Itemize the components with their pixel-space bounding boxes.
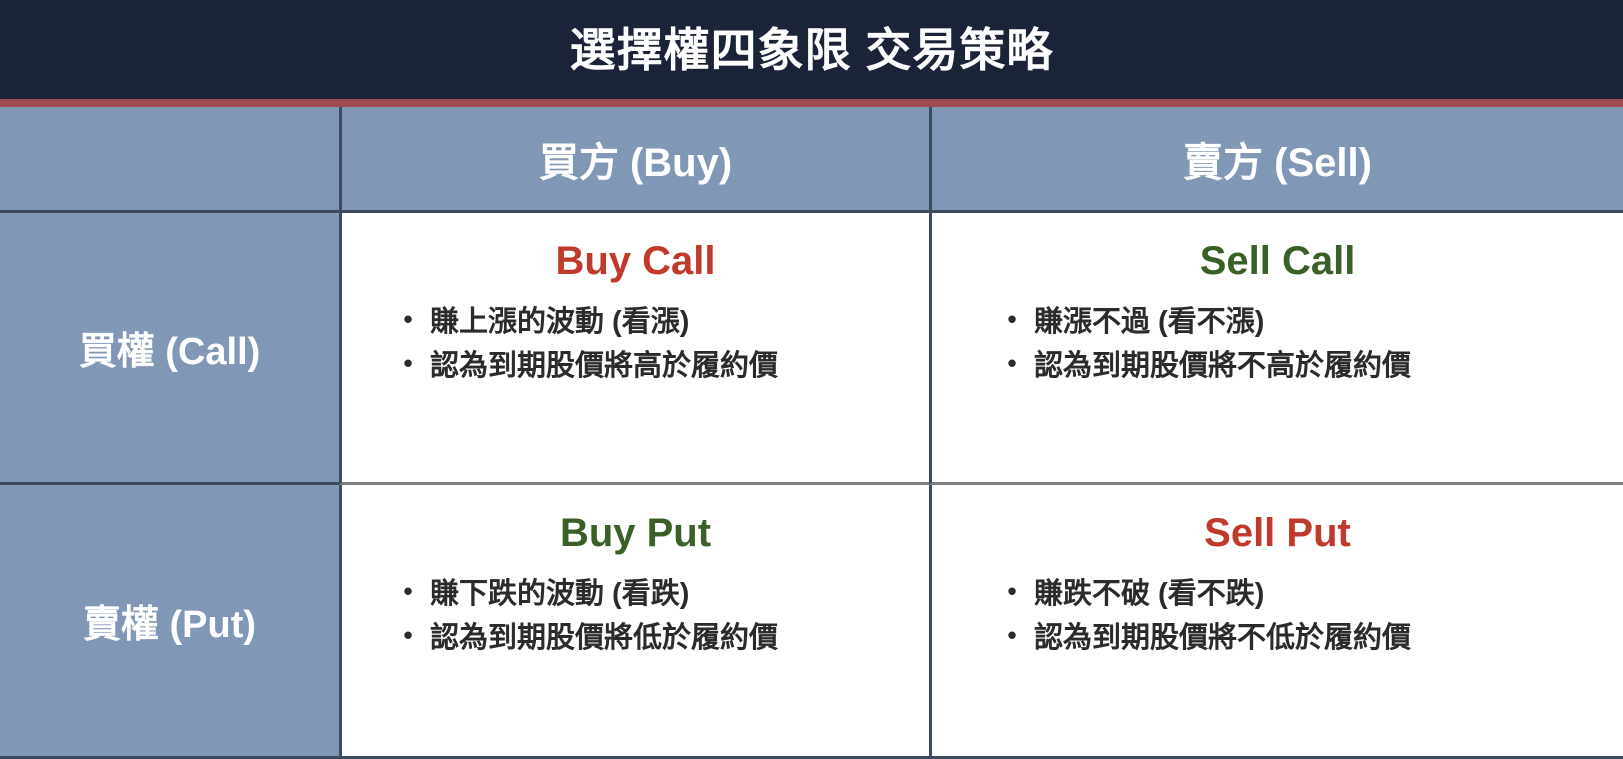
row-header-put: 賣權 (Put) xyxy=(0,485,339,759)
list-item: • 賺跌不破 (看不跌) xyxy=(990,573,1623,615)
cell-sell-call-bullets: • 賺漲不過 (看不漲) • 認為到期股價將不高於履約價 xyxy=(932,301,1623,389)
cell-buy-put: Buy Put • 賺下跌的波動 (看跌) • 認為到期股價將低於履約價 xyxy=(339,485,929,759)
cell-buy-call: Buy Call • 賺上漲的波動 (看漲) • 認為到期股價將高於履約價 xyxy=(339,213,929,485)
bullet-dot-icon: • xyxy=(386,617,430,655)
list-item: • 認為到期股價將高於履約價 xyxy=(386,345,929,387)
cell-buy-put-bullets: • 賺下跌的波動 (看跌) • 認為到期股價將低於履約價 xyxy=(342,573,929,661)
column-header-buy: 買方 (Buy) xyxy=(339,107,929,213)
row-header-put-label: 賣權 (Put) xyxy=(83,593,256,648)
row-header-call: 買權 (Call) xyxy=(0,213,339,485)
list-item-text: 賺跌不破 (看不跌) xyxy=(1034,573,1264,615)
list-item: • 賺下跌的波動 (看跌) xyxy=(386,573,929,615)
cell-sell-put: Sell Put • 賺跌不破 (看不跌) • 認為到期股價將不低於履約價 xyxy=(929,485,1623,759)
list-item-text: 賺下跌的波動 (看跌) xyxy=(430,573,689,615)
bullet-dot-icon: • xyxy=(386,301,430,339)
list-item: • 認為到期股價將低於履約價 xyxy=(386,617,929,659)
cell-sell-put-bullets: • 賺跌不破 (看不跌) • 認為到期股價將不低於履約價 xyxy=(932,573,1623,661)
page-title: 選擇權四象限 交易策略 xyxy=(570,27,1054,73)
list-item: • 認為到期股價將不高於履約價 xyxy=(990,345,1623,387)
list-item-text: 認為到期股價將低於履約價 xyxy=(430,617,778,659)
bullet-dot-icon: • xyxy=(990,617,1034,655)
cell-sell-call-title: Sell Call xyxy=(1200,239,1356,283)
cell-buy-put-title: Buy Put xyxy=(560,511,711,555)
bullet-dot-icon: • xyxy=(990,301,1034,339)
bullet-dot-icon: • xyxy=(386,573,430,611)
title-banner: 選擇權四象限 交易策略 xyxy=(0,0,1623,99)
cell-sell-call: Sell Call • 賺漲不過 (看不漲) • 認為到期股價將不高於履約價 xyxy=(929,213,1623,485)
strategy-matrix: 買方 (Buy) 賣方 (Sell) 買權 (Call) Buy Call • … xyxy=(0,107,1623,759)
column-header-sell-label: 賣方 (Sell) xyxy=(1183,130,1372,188)
row-header-call-label: 買權 (Call) xyxy=(79,320,261,375)
cell-buy-call-title: Buy Call xyxy=(555,239,715,283)
list-item: • 認為到期股價將不低於履約價 xyxy=(990,617,1623,659)
list-item: • 賺上漲的波動 (看漲) xyxy=(386,301,929,343)
cell-sell-put-title: Sell Put xyxy=(1204,511,1351,555)
cell-buy-call-bullets: • 賺上漲的波動 (看漲) • 認為到期股價將高於履約價 xyxy=(342,301,929,389)
column-header-sell: 賣方 (Sell) xyxy=(929,107,1623,213)
column-header-buy-label: 買方 (Buy) xyxy=(539,130,732,188)
list-item-text: 認為到期股價將高於履約價 xyxy=(430,345,778,387)
list-item-text: 認為到期股價將不高於履約價 xyxy=(1034,345,1411,387)
matrix-corner-cell xyxy=(0,107,339,213)
list-item-text: 賺上漲的波動 (看漲) xyxy=(430,301,689,343)
bullet-dot-icon: • xyxy=(990,345,1034,383)
options-quadrant-slide: 選擇權四象限 交易策略 買方 (Buy) 賣方 (Sell) 買權 (Call)… xyxy=(0,0,1623,759)
bullet-dot-icon: • xyxy=(990,573,1034,611)
list-item-text: 認為到期股價將不低於履約價 xyxy=(1034,617,1411,659)
list-item-text: 賺漲不過 (看不漲) xyxy=(1034,301,1264,343)
bullet-dot-icon: • xyxy=(386,345,430,383)
title-accent-rule xyxy=(0,99,1623,107)
list-item: • 賺漲不過 (看不漲) xyxy=(990,301,1623,343)
